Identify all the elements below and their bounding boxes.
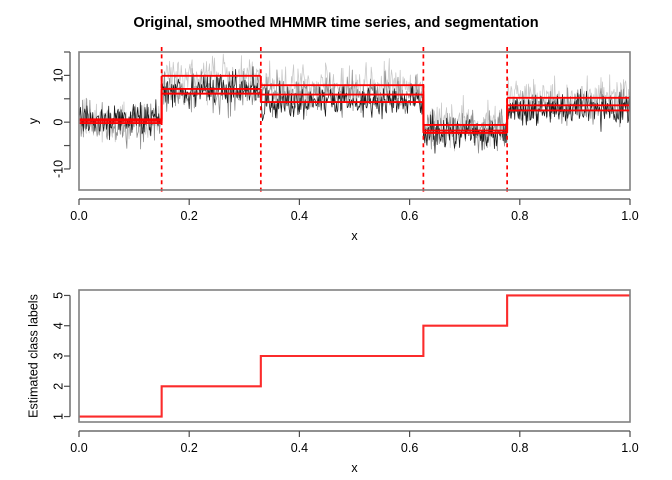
bottom-y-axis-title: Estimated class labels [27, 294, 41, 418]
bottom-panel: 12345Estimated class labels0.00.20.40.60… [27, 290, 639, 475]
plot-title: Original, smoothed MHMMR time series, an… [133, 15, 538, 31]
bottom-x-tick-label-0.8: 0.8 [511, 441, 528, 455]
bottom-x-tick-label-0.6: 0.6 [401, 441, 418, 455]
mhmmr-figure: Original, smoothed MHMMR time series, an… [0, 0, 672, 480]
top-panel: -10010y0.00.20.40.60.81.0x [27, 47, 639, 243]
bottom-x-tick-label-1.0: 1.0 [621, 441, 638, 455]
bottom-x-tick-label-0.4: 0.4 [291, 441, 308, 455]
bottom-x-tick-label-0.0: 0.0 [70, 441, 87, 455]
bottom-y-tick-label-2: 2 [52, 383, 66, 390]
bottom-y-tick-label-1: 1 [52, 413, 66, 420]
top-y-tick-label-0: 0 [52, 119, 66, 126]
bottom-x-axis-title: x [351, 461, 358, 475]
bottom-x-tick-label-0.2: 0.2 [181, 441, 198, 455]
figure-canvas: Original, smoothed MHMMR time series, an… [0, 0, 672, 480]
top-y-axis-title: y [27, 117, 41, 124]
top-x-axis-title: x [351, 229, 358, 243]
top-x-tick-label-0.6: 0.6 [401, 209, 418, 223]
top-y-tick-label--10: -10 [52, 160, 66, 178]
top-x-tick-label-1.0: 1.0 [621, 209, 638, 223]
top-x-tick-label-0.2: 0.2 [181, 209, 198, 223]
bottom-y-tick-label-5: 5 [52, 292, 66, 299]
top-x-tick-label-0.0: 0.0 [70, 209, 87, 223]
bottom-y-tick-label-4: 4 [52, 322, 66, 329]
bottom-y-tick-label-3: 3 [52, 352, 66, 359]
top-x-tick-label-0.8: 0.8 [511, 209, 528, 223]
top-x-tick-label-0.4: 0.4 [291, 209, 308, 223]
estimated-class-labels-step [79, 295, 630, 416]
top-y-tick-label-10: 10 [52, 68, 66, 82]
